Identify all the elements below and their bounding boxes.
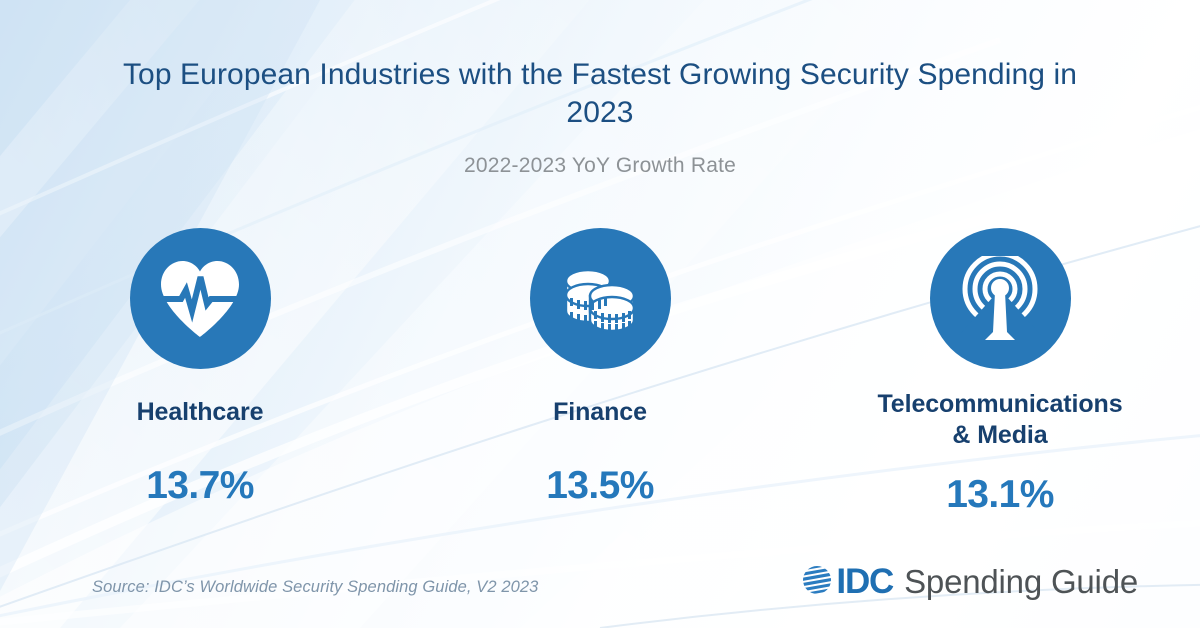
infographic-canvas: Top European Industries with the Fastest… <box>0 0 1200 628</box>
source-note: Source: IDC’s Worldwide Security Spendin… <box>92 578 538 597</box>
card-healthcare: Healthcare 13.7% <box>0 228 400 508</box>
card-value-telecommunications-media: 13.1% <box>946 473 1054 517</box>
icon-badge-finance <box>530 228 671 369</box>
heartbeat-icon <box>157 259 243 339</box>
card-value-healthcare: 13.7% <box>146 464 254 508</box>
page-title: Top European Industries with the Fastest… <box>0 56 1200 132</box>
coins-icon <box>558 262 642 336</box>
broadcast-antenna-icon <box>959 256 1041 342</box>
card-value-finance: 13.5% <box>546 464 654 508</box>
idc-spending-guide-logo: IDC Spending Guide <box>800 562 1138 602</box>
spending-guide-wordmark: Spending Guide <box>904 564 1138 600</box>
header: Top European Industries with the Fastest… <box>0 56 1200 178</box>
industry-cards: Healthcare 13.7% <box>0 228 1200 517</box>
page-subtitle: 2022-2023 YoY Growth Rate <box>0 154 1200 178</box>
card-label-telecommunications-media: Telecommunications & Media <box>877 389 1122 451</box>
card-finance: Finance 13.5% <box>400 228 800 508</box>
card-telecommunications-media: Telecommunications & Media 13.1% <box>800 228 1200 517</box>
icon-badge-healthcare <box>130 228 271 369</box>
card-label-healthcare: Healthcare <box>137 397 264 428</box>
card-label-finance: Finance <box>553 397 647 428</box>
idc-globe-icon <box>800 564 834 601</box>
idc-wordmark: IDC <box>836 564 893 600</box>
icon-badge-telecommunications <box>930 228 1071 369</box>
